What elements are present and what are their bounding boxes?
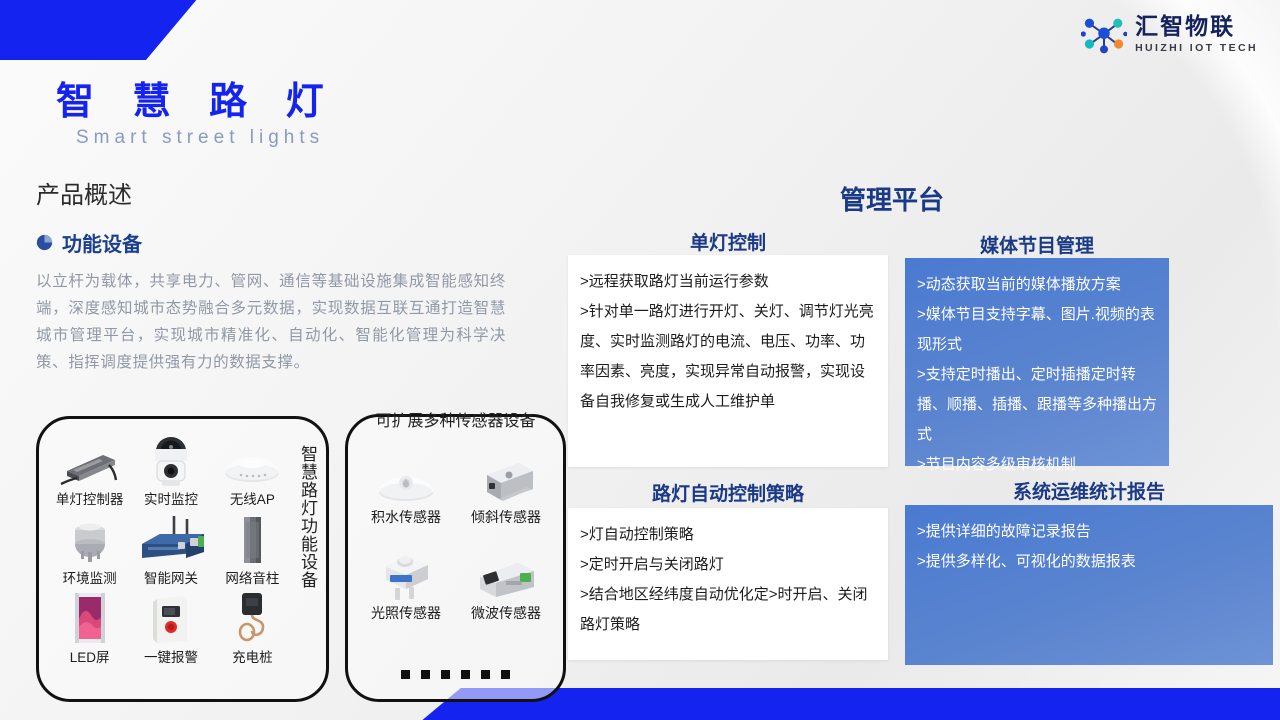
device-label: 一键报警 bbox=[144, 646, 198, 666]
microwave-sensor-icon bbox=[472, 537, 540, 601]
device-label: LED屏 bbox=[70, 646, 110, 666]
overview-paragraph: 以立杆为载体，共享电力、管网、通信等基础设施集成智能感知终端，深度感知城市态势融… bbox=[36, 268, 506, 376]
sensor-panel-title: 可扩展多种传感器设备 bbox=[348, 407, 563, 431]
sensor-item: 光照传感器 bbox=[356, 537, 456, 623]
card-title-ops-statistics-report: 系统运维统计报告 bbox=[905, 477, 1273, 504]
card-line: >节目内容多级审核机制 bbox=[917, 450, 1159, 480]
led-screen-icon bbox=[69, 589, 111, 645]
brand-logo: 汇智物联 HUIZHI IOT TECH bbox=[1081, 14, 1258, 54]
device-item: 无线AP bbox=[212, 431, 293, 508]
card-line: >针对单一路灯进行开灯、关灯、调节灯光亮度、实时监测路灯的电流、电压、功率、功率… bbox=[580, 297, 878, 417]
card-media-program-management: >动态获取当前的媒体播放方案 >媒体节目支持字幕、图片.视频的表现形式 >支持定… bbox=[905, 258, 1169, 466]
device-item: LED屏 bbox=[49, 589, 130, 666]
device-item: 智能网关 bbox=[130, 510, 211, 587]
card-body: >提供详细的故障记录报告 >提供多样化、可视化的数据报表 bbox=[905, 505, 1273, 585]
logo-company-name-en: HUIZHI IOT TECH bbox=[1135, 43, 1258, 54]
charging-pile-icon bbox=[231, 589, 273, 645]
dot bbox=[421, 670, 430, 679]
slide-root: 汇智物联 HUIZHI IOT TECH 智 慧 路 灯 Smart stree… bbox=[0, 0, 1280, 720]
pie-chart-icon bbox=[36, 234, 53, 251]
logo-company-name: 汇智物联 bbox=[1135, 15, 1258, 38]
card-line: >媒体节目支持字幕、图片.视频的表现形式 bbox=[917, 300, 1159, 360]
subsection-functional-devices: 功能设备 bbox=[36, 228, 142, 257]
sensor-label: 积水传感器 bbox=[371, 507, 441, 527]
card-line: >提供详细的故障记录报告 bbox=[917, 517, 1263, 547]
card-line: >动态获取当前的媒体播放方案 bbox=[917, 270, 1159, 300]
card-body: >动态获取当前的媒体播放方案 >媒体节目支持字幕、图片.视频的表现形式 >支持定… bbox=[905, 258, 1169, 488]
card-title-auto-control-strategy: 路灯自动控制策略 bbox=[568, 479, 888, 506]
card-body: >灯自动控制策略 >定时开启与关闭路灯 >结合地区经纬度自动优化定>时开启、关闭… bbox=[568, 508, 888, 648]
card-line: >定时开启与关闭路灯 bbox=[580, 550, 878, 580]
dot bbox=[481, 670, 490, 679]
device-item: 实时监控 bbox=[130, 431, 211, 508]
sensor-label: 倾斜传感器 bbox=[471, 507, 541, 527]
sensor-item: 微波传感器 bbox=[456, 537, 556, 623]
device-label: 实时监控 bbox=[144, 488, 198, 508]
device-label: 充电桩 bbox=[232, 646, 273, 666]
device-item: 充电桩 bbox=[212, 589, 293, 666]
device-item: 网络音柱 bbox=[212, 510, 293, 587]
device-item: 一键报警 bbox=[130, 589, 211, 666]
molecule-network-icon bbox=[1081, 14, 1127, 54]
device-panel-vertical-label: 智慧路灯功能设备 bbox=[292, 445, 318, 589]
card-body: >远程获取路灯当前运行参数 >针对单一路灯进行开灯、关灯、调节灯光亮度、实时监测… bbox=[568, 255, 888, 425]
smart-gateway-icon bbox=[134, 510, 208, 566]
card-auto-control-strategy: >灯自动控制策略 >定时开启与关闭路灯 >结合地区经纬度自动优化定>时开启、关闭… bbox=[568, 508, 888, 660]
card-line: >支持定时播出、定时插播定时转播、顺播、插播、跟播等多种播出方式 bbox=[917, 360, 1159, 450]
ptz-camera-icon bbox=[148, 431, 194, 487]
dot bbox=[501, 670, 510, 679]
sensor-label: 光照传感器 bbox=[371, 603, 441, 623]
network-speaker-icon bbox=[235, 510, 269, 566]
card-single-lamp-control: >远程获取路灯当前运行参数 >针对单一路灯进行开灯、关灯、调节灯光亮度、实时监测… bbox=[568, 255, 888, 467]
device-label: 单灯控制器 bbox=[56, 488, 124, 508]
sensor-label: 微波传感器 bbox=[471, 603, 541, 623]
device-item: 单灯控制器 bbox=[49, 431, 130, 508]
card-title-single-lamp-control: 单灯控制 bbox=[568, 228, 888, 255]
tilt-sensor-icon bbox=[473, 441, 539, 505]
dot bbox=[441, 670, 450, 679]
device-label: 网络音柱 bbox=[225, 567, 279, 587]
sensor-item: 倾斜传感器 bbox=[456, 441, 556, 527]
environment-sensor-icon bbox=[63, 510, 117, 566]
device-item: 环境监测 bbox=[49, 510, 130, 587]
sensor-more-dots bbox=[348, 670, 563, 679]
wireless-ap-icon bbox=[221, 431, 283, 487]
platform-title: 管理平台 bbox=[840, 180, 944, 217]
card-line: >远程获取路灯当前运行参数 bbox=[580, 267, 878, 297]
card-line: >提供多样化、可视化的数据报表 bbox=[917, 547, 1263, 577]
sensor-item: 积水传感器 bbox=[356, 441, 456, 527]
device-label: 无线AP bbox=[230, 488, 275, 508]
dot bbox=[401, 670, 410, 679]
subsection-label: 功能设备 bbox=[62, 228, 142, 257]
card-line: >结合地区经纬度自动优化定>时开启、关闭路灯策略 bbox=[580, 580, 878, 640]
sensor-grid: 积水传感器 倾斜传感器 bbox=[356, 441, 556, 623]
page-title: 智 慧 路 灯 bbox=[56, 70, 338, 125]
card-ops-statistics-report: >提供详细的故障记录报告 >提供多样化、可视化的数据报表 bbox=[905, 505, 1273, 665]
device-label: 环境监测 bbox=[63, 567, 117, 587]
section-title-overview: 产品概述 bbox=[36, 175, 132, 210]
dot bbox=[461, 670, 470, 679]
device-label: 智能网关 bbox=[144, 567, 198, 587]
emergency-call-icon bbox=[149, 589, 193, 645]
page-subtitle: Smart street lights bbox=[76, 127, 324, 149]
card-title-media-program-management: 媒体节目管理 bbox=[905, 231, 1169, 258]
card-line: >灯自动控制策略 bbox=[580, 520, 878, 550]
light-sensor-icon bbox=[374, 537, 438, 601]
water-level-sensor-icon bbox=[374, 441, 438, 505]
driver-box-icon bbox=[59, 431, 121, 487]
sensor-panel: 可扩展多种传感器设备 积水传感器 bbox=[345, 414, 566, 702]
device-panel: 智慧路灯功能设备 单灯控制器 bbox=[36, 416, 329, 702]
device-grid: 单灯控制器 bbox=[49, 431, 293, 666]
